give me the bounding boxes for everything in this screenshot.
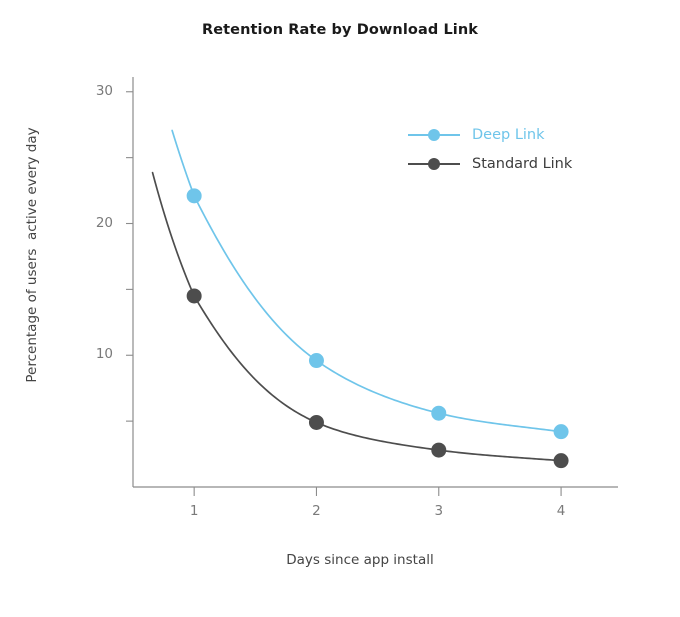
x-tick-label: 2 bbox=[296, 503, 336, 519]
data-point[interactable] bbox=[309, 415, 324, 430]
legend-label: Standard Link bbox=[460, 156, 572, 172]
data-point[interactable] bbox=[309, 353, 324, 368]
legend-label: Deep Link bbox=[460, 127, 545, 143]
x-tick-label: 1 bbox=[174, 503, 214, 519]
data-point[interactable] bbox=[554, 424, 569, 439]
data-point[interactable] bbox=[187, 188, 202, 203]
x-tick-label: 4 bbox=[541, 503, 581, 519]
y-tick-label: 30 bbox=[73, 83, 113, 99]
legend-item-standard-link[interactable]: Standard Link bbox=[408, 149, 618, 178]
x-tick-label: 3 bbox=[419, 503, 459, 519]
data-point[interactable] bbox=[187, 288, 202, 303]
data-point[interactable] bbox=[431, 443, 446, 458]
data-point[interactable] bbox=[554, 453, 569, 468]
legend-marker-icon bbox=[408, 127, 460, 143]
series-line-standard-link bbox=[153, 173, 562, 461]
y-tick-label: 10 bbox=[73, 346, 113, 362]
data-point[interactable] bbox=[431, 406, 446, 421]
y-tick-label: 20 bbox=[73, 215, 113, 231]
legend-item-deep-link[interactable]: Deep Link bbox=[408, 120, 618, 149]
legend-marker-icon bbox=[408, 156, 460, 172]
chart-legend: Deep Link Standard Link bbox=[408, 120, 618, 178]
chart-container: Retention Rate by Download Link Percenta… bbox=[0, 0, 680, 617]
